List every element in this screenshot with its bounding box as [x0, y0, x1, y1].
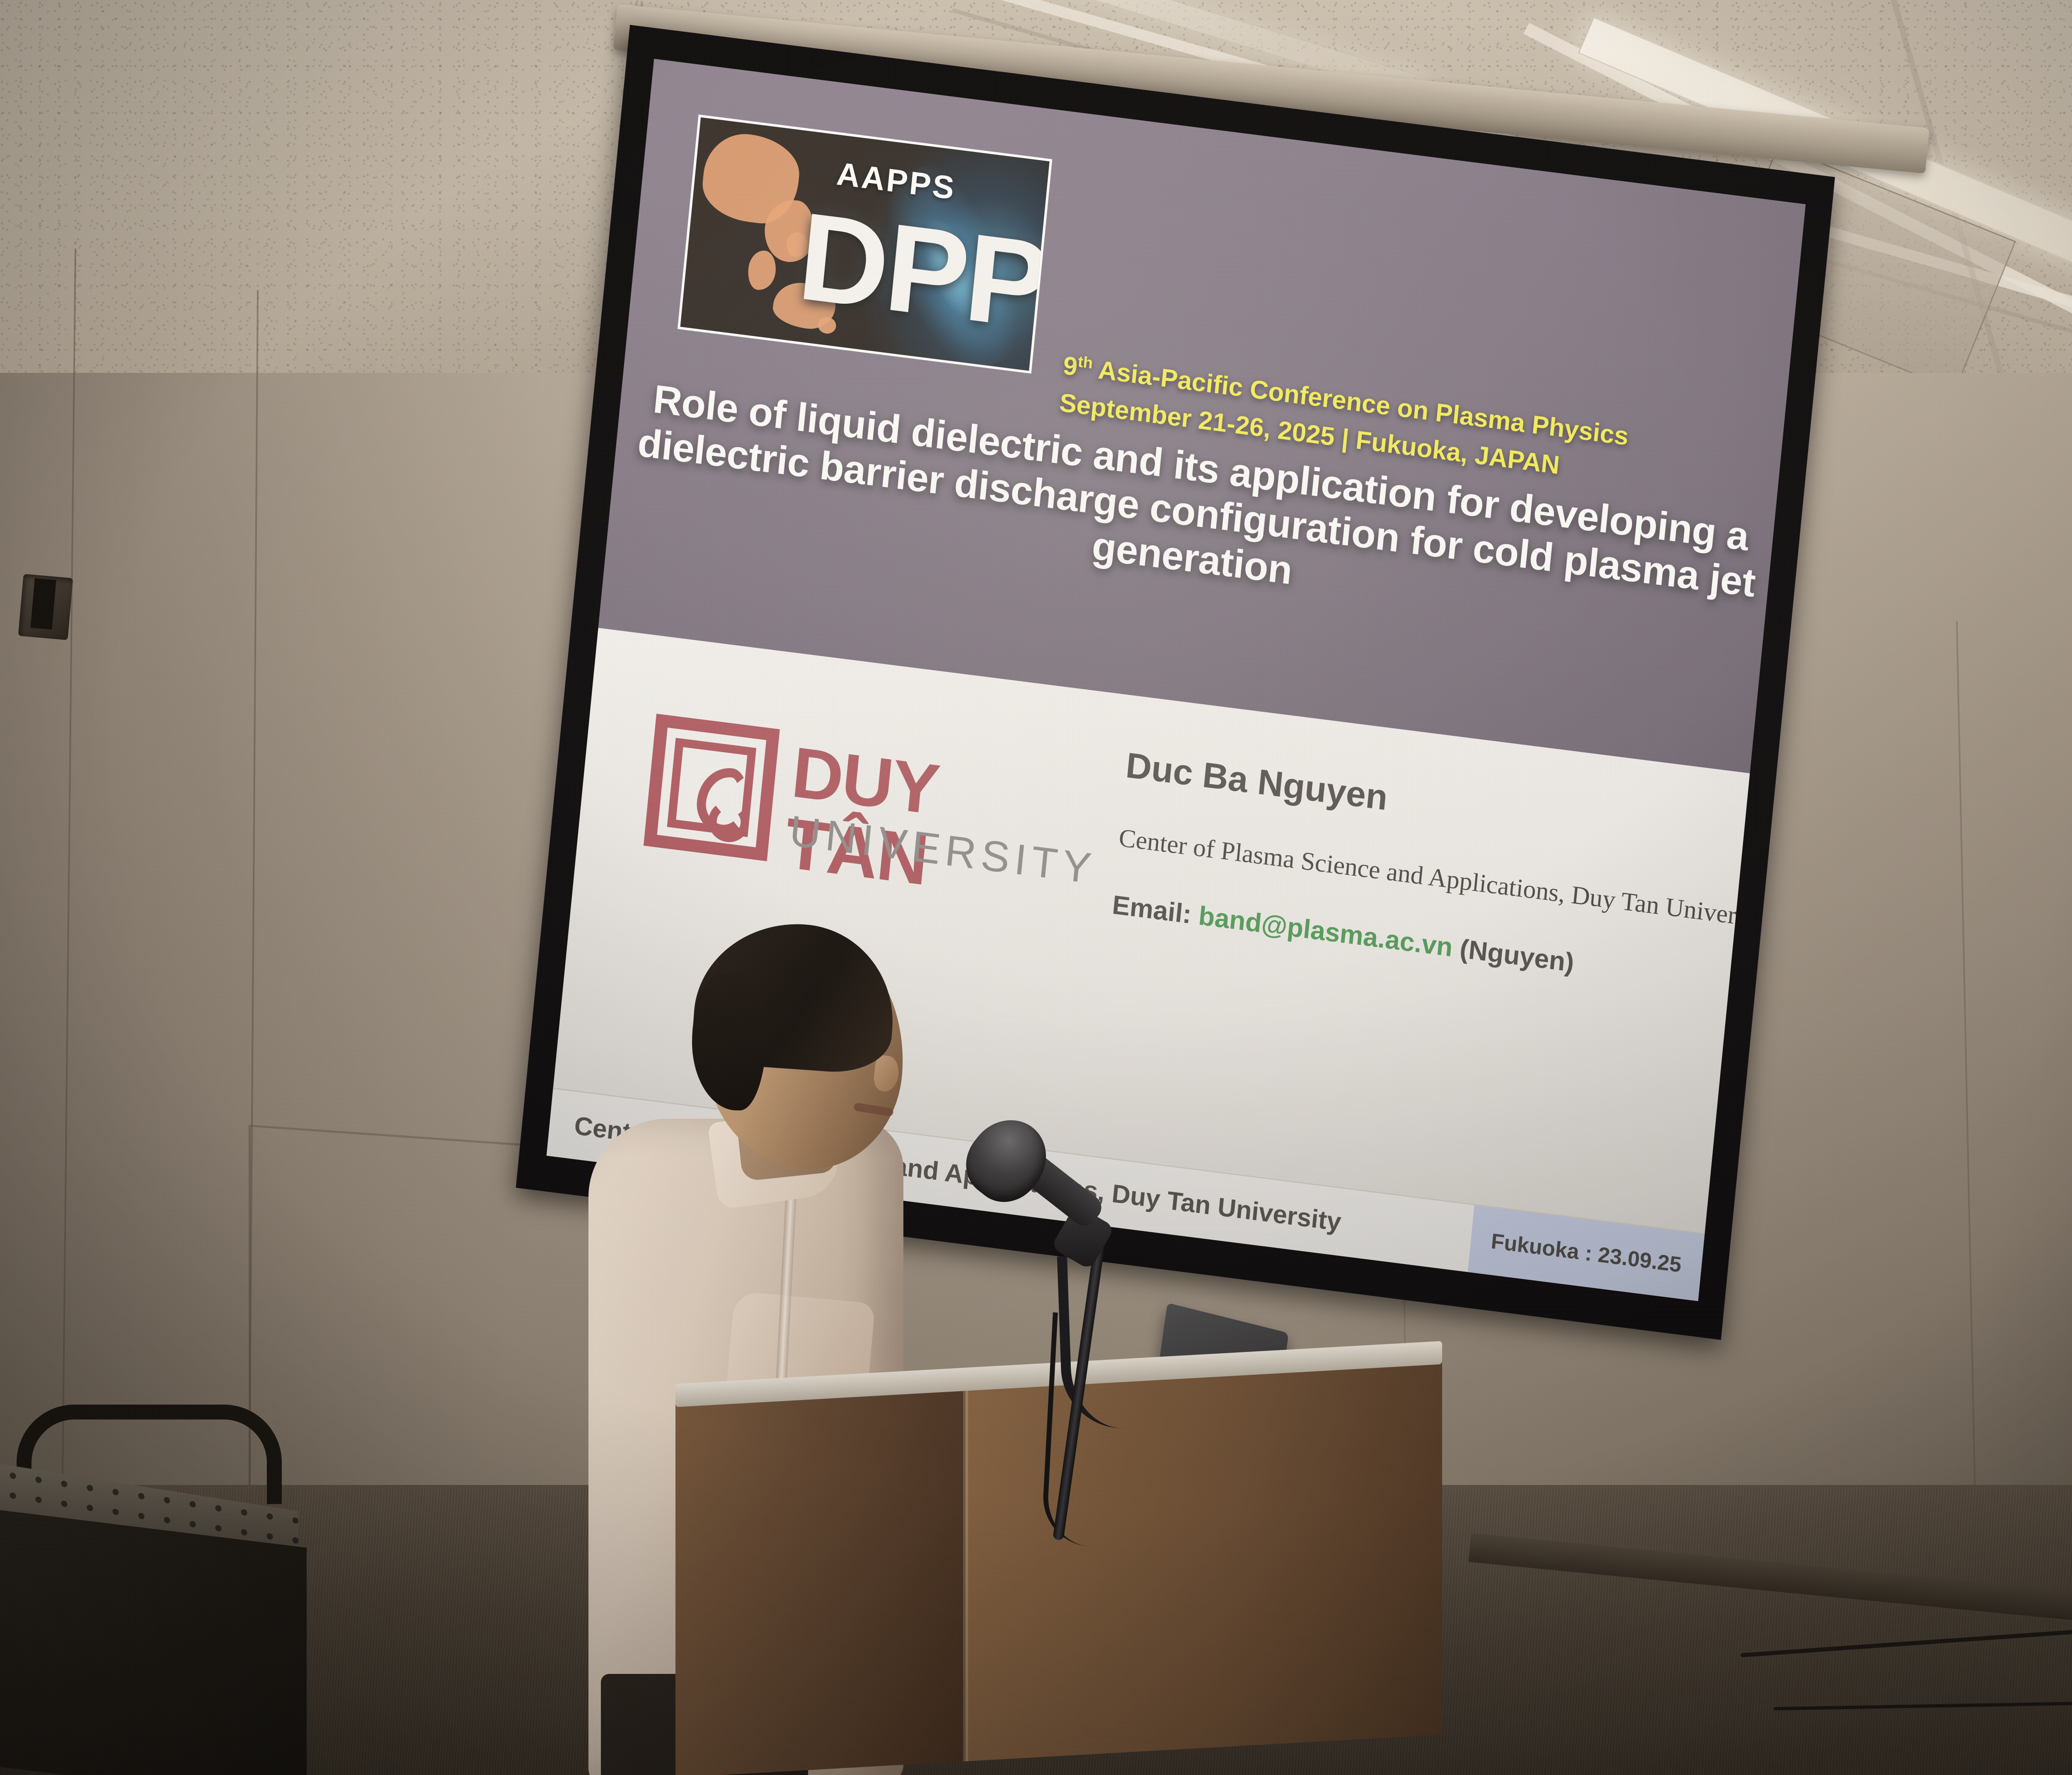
microphone[interactable]: [949, 1119, 1206, 1533]
aapps-dpp-logo: AAPPS DPP: [678, 114, 1052, 373]
duy-tan-emblem: [644, 713, 780, 861]
duy-tan-swirl-motif: [694, 764, 753, 837]
dpp-acronym: DPP: [794, 193, 1052, 348]
presenter-hair-side: [692, 974, 767, 1110]
room: AAPPS DPP 9th Asia-Pacific Conference on…: [0, 0, 2072, 1775]
partition-wall-handle[interactable]: [18, 574, 73, 640]
trolley-body: [0, 1510, 307, 1775]
conference-ordinal-suffix: th: [1077, 353, 1094, 372]
equipment-trolley[interactable]: [0, 1405, 315, 1775]
photo-scene: AAPPS DPP 9th Asia-Pacific Conference on…: [0, 0, 2072, 1775]
world-map-shape: [746, 249, 777, 292]
podium-left-face: [675, 1388, 966, 1775]
conference-ordinal: 9: [1062, 351, 1079, 381]
